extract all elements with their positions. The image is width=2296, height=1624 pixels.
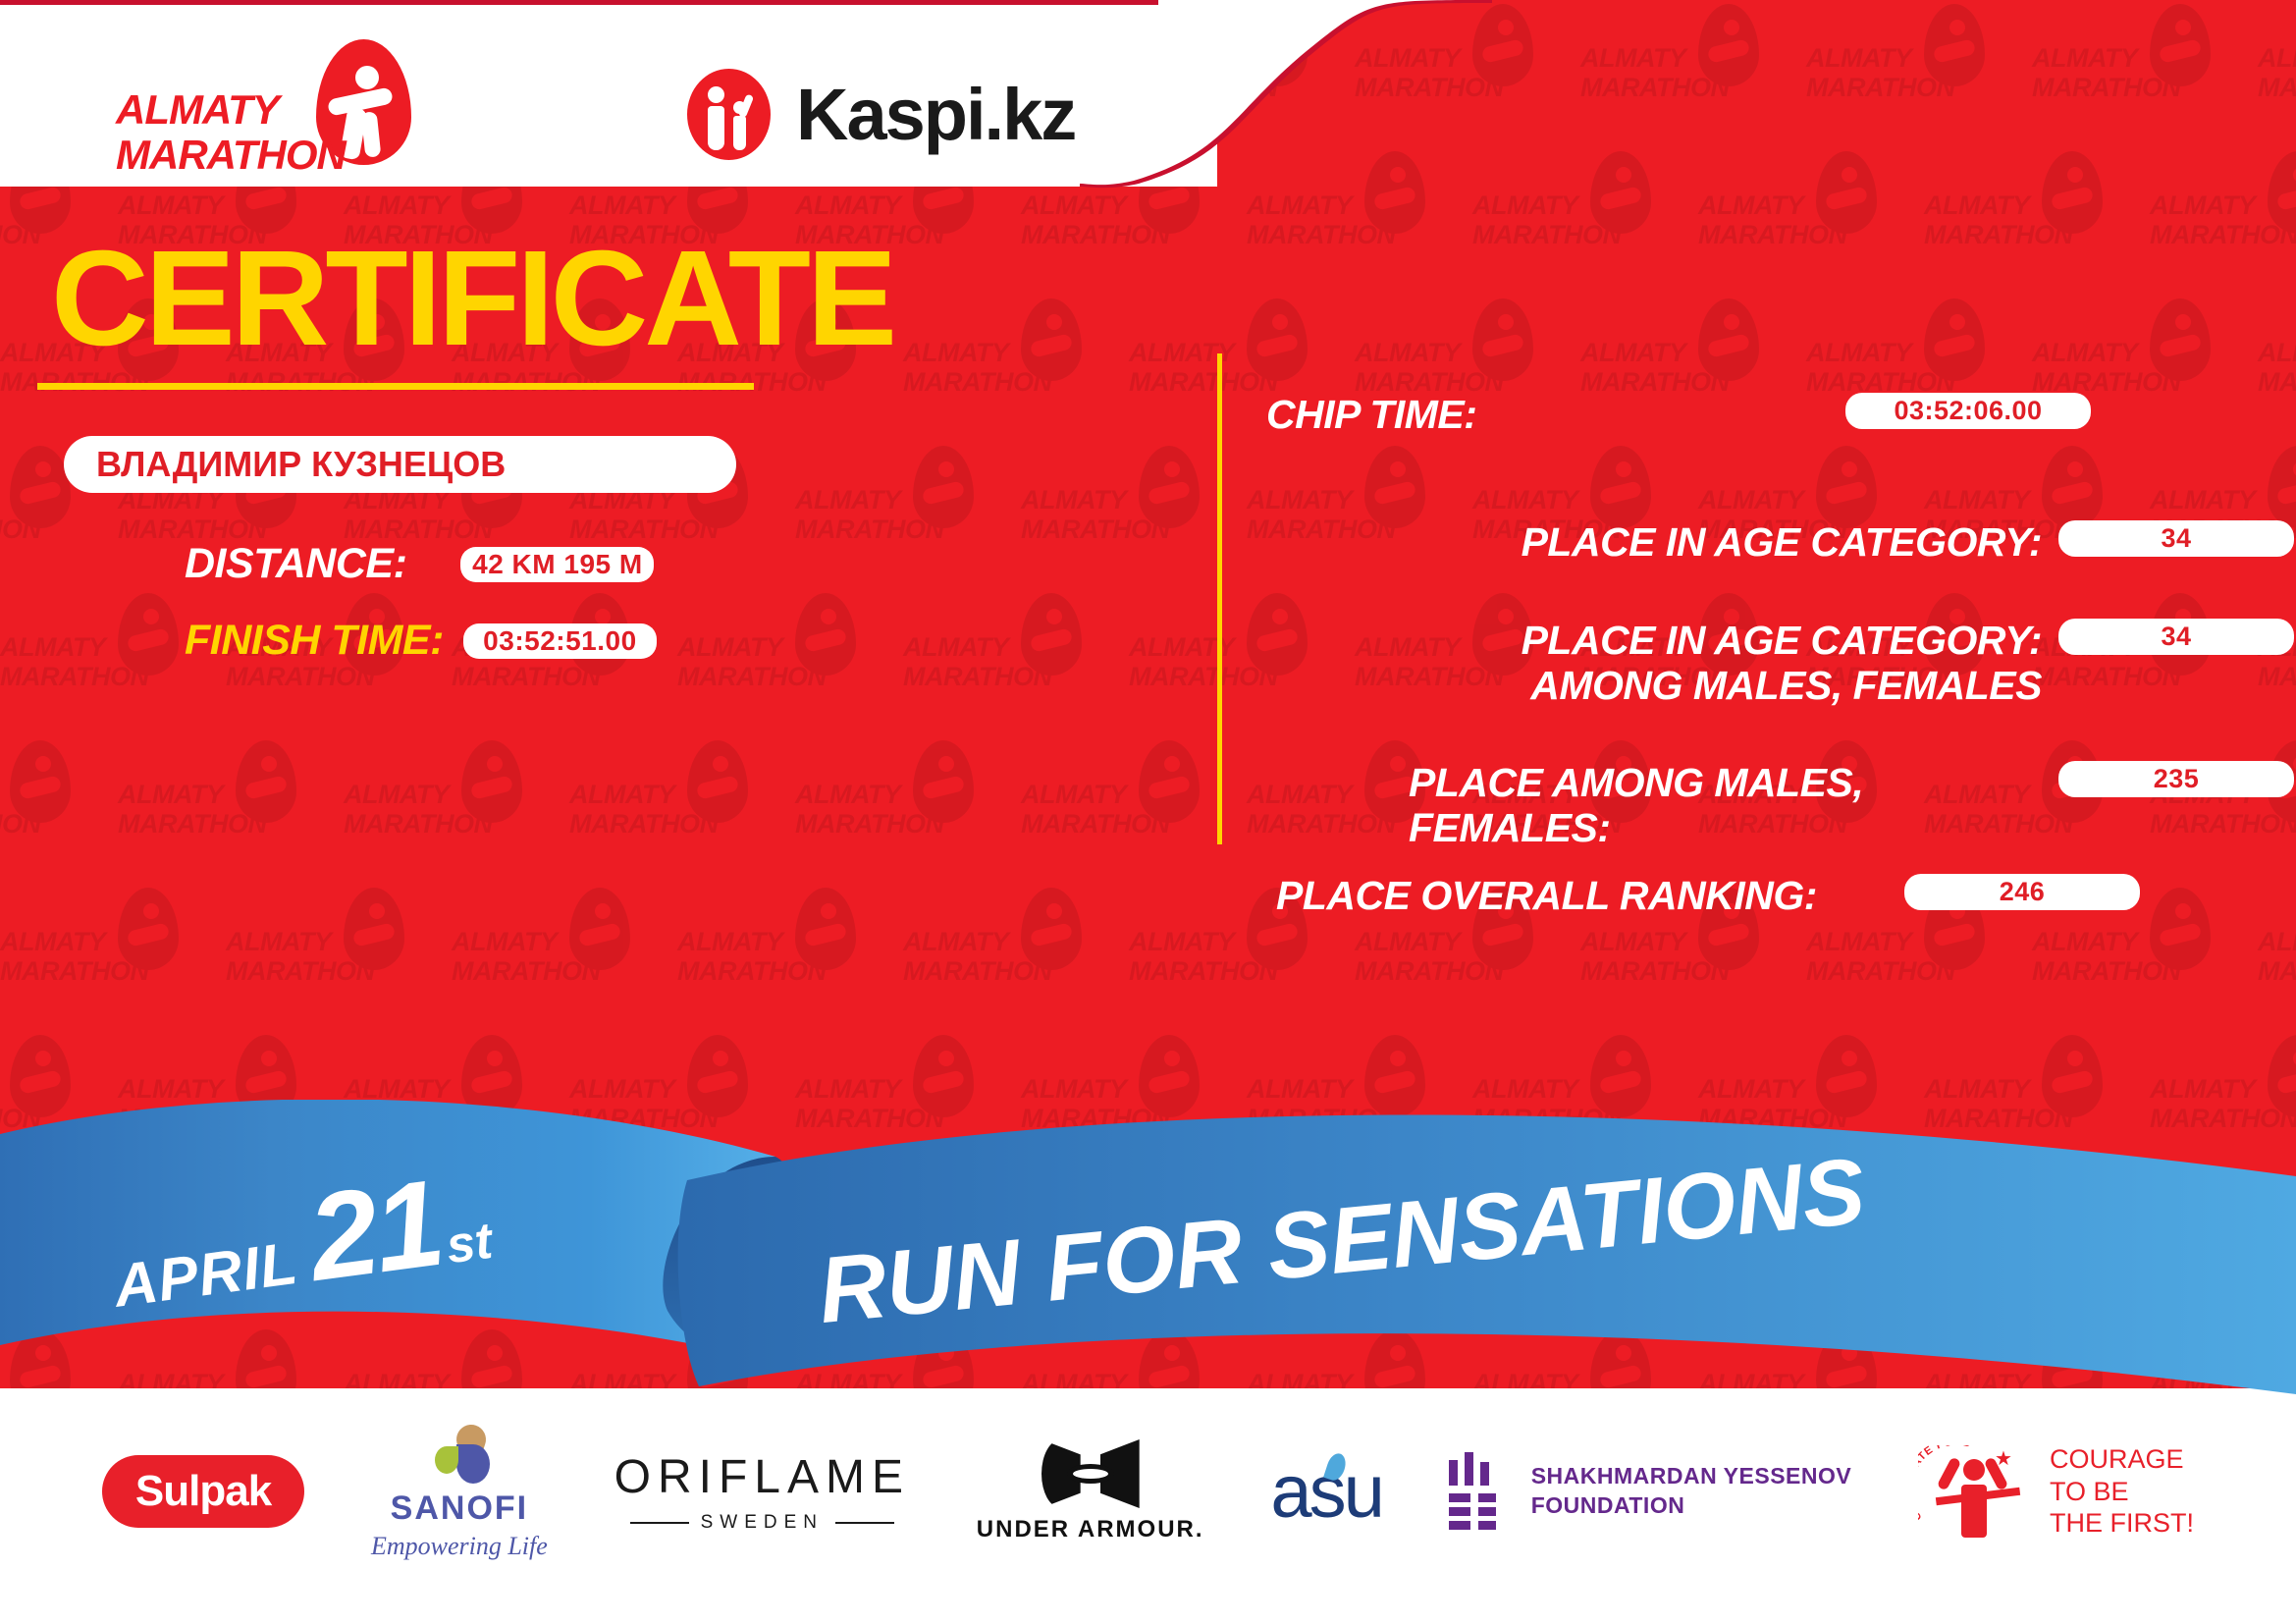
watermark-tile: ALMATYMARATHON (1806, 0, 2032, 147)
watermark-tile: ALMATYMARATHON (903, 884, 1129, 1031)
almaty-logo-line2: MARATHON (116, 132, 346, 179)
certificate-canvas: ALMATYMARATHONALMATYMARATHONALMATYMARATH… (0, 0, 2296, 1624)
watermark-tile: ALMATYMARATHON (2150, 147, 2296, 295)
watermark-tile: ALMATYMARATHON (2258, 0, 2296, 147)
watermark-tile: ALMATYMARATHON (1580, 0, 1806, 147)
event-day: 21 (301, 1153, 450, 1309)
watermark-tile: ALMATYMARATHON (1247, 442, 1472, 589)
header-top-rule (0, 0, 1158, 5)
yessenov-line1: SHAKHMARDAN YESSENOV (1531, 1462, 1852, 1491)
label-line-1: PLACE IN AGE CATEGORY: (1237, 619, 2042, 664)
place-age-category-row: PLACE IN AGE CATEGORY: 34 (1217, 520, 2296, 566)
event-day-suffix: st (443, 1212, 496, 1276)
label-line-2: FEMALES: (1409, 806, 2042, 851)
place-overall-label: PLACE OVERALL RANKING: (1217, 874, 1904, 919)
kaspi-figures-icon (687, 69, 771, 160)
watermark-tile: ALMATYMARATHON (118, 736, 344, 884)
event-month: APRIL (110, 1228, 302, 1321)
watermark-tile: ALMATYMARATHON (1924, 147, 2150, 295)
event-ribbon: APRIL 21 st RUN FOR SENSATIONS (0, 1100, 2296, 1424)
courage-line2: TO BE (2050, 1476, 2194, 1508)
watermark-tile: ALMATYMARATHON (0, 736, 118, 884)
sponsor-courage-fund: CORPORATE FUND ★ COURAGE TO BE THE FIRST… (1918, 1437, 2194, 1545)
participant-name-value: ВЛАДИМИР КУЗНЕЦОВ (96, 444, 506, 485)
chip-time-label: CHIP TIME: (1217, 393, 1845, 438)
place-age-category-value: 34 (2058, 520, 2294, 557)
watermark-tile: ALMATYMARATHON (903, 589, 1129, 736)
sponsor-oriflame: ORIFLAME SWEDEN (614, 1450, 910, 1534)
sanofi-bird-icon (429, 1423, 490, 1484)
distance-row: DISTANCE: 42 KM 195 M (185, 540, 654, 588)
watermark-tile: ALMATYMARATHON (677, 589, 903, 736)
almaty-marathon-logo: ALMATY MARATHON (116, 51, 440, 159)
place-among-gender-row: PLACE AMONG MALES, FEMALES: 235 (1217, 761, 2296, 851)
place-age-category-gender-label: PLACE IN AGE CATEGORY: AMONG MALES, FEMA… (1217, 619, 2042, 709)
oriflame-wordmark: ORIFLAME (614, 1450, 910, 1504)
place-among-gender-label: PLACE AMONG MALES, FEMALES: (1217, 761, 2042, 851)
yessenov-glyph-icon (1449, 1452, 1510, 1531)
courage-line1: COURAGE (2050, 1443, 2194, 1476)
participant-name-field: ВЛАДИМИР КУЗНЕЦОВ (64, 436, 736, 493)
sponsor-under-armour: UNDER ARMOUR. (977, 1439, 1204, 1543)
sponsor-sulpak: Sulpak (102, 1455, 304, 1528)
kaspi-wordmark: Kaspi.kz (796, 73, 1075, 156)
sulpak-wordmark: Sulpak (102, 1455, 304, 1528)
watermark-tile: ALMATYMARATHON (795, 736, 1021, 884)
watermark-tile: ALMATYMARATHON (569, 736, 795, 884)
place-age-category-gender-value: 34 (2058, 619, 2294, 655)
watermark-tile: ALMATYMARATHON (677, 884, 903, 1031)
finish-time-value: 03:52:51.00 (463, 623, 657, 659)
place-among-gender-value: 235 (2058, 761, 2294, 797)
watermark-tile: ALMATYMARATHON (1021, 442, 1247, 589)
chip-time-row: CHIP TIME: 03:52:06.00 (1217, 393, 2296, 438)
header-curve-shape (1080, 0, 1492, 260)
place-overall-value: 246 (1904, 874, 2140, 910)
finish-time-label: FINISH TIME: (185, 617, 444, 665)
watermark-tile: ALMATYMARATHON (1924, 442, 2150, 589)
distance-label: DISTANCE: (185, 540, 406, 588)
title-underline (37, 383, 754, 390)
watermark-tile: ALMATYMARATHON (1698, 147, 1924, 295)
oriflame-sub-text: SWEDEN (701, 1512, 824, 1534)
oriflame-sub: SWEDEN (614, 1512, 910, 1534)
watermark-tile: ALMATYMARATHON (0, 884, 226, 1031)
sanofi-wordmark: SANOFI (371, 1489, 548, 1528)
courage-figure-icon: CORPORATE FUND ★ (1918, 1437, 2034, 1545)
under-armour-icon (1041, 1439, 1140, 1508)
yessenov-line2: FOUNDATION (1531, 1491, 1852, 1521)
watermark-tile: ALMATYMARATHON (226, 884, 452, 1031)
courage-wordmark: COURAGE TO BE THE FIRST! (2050, 1443, 2194, 1541)
watermark-tile: ALMATYMARATHON (452, 884, 677, 1031)
watermark-tile: ALMATYMARATHON (2032, 0, 2258, 147)
kaspi-logo: Kaspi.kz (687, 69, 1075, 160)
asu-text: asu (1270, 1450, 1382, 1534)
page-title: CERTIFICATE (51, 231, 893, 366)
place-age-category-gender-row: PLACE IN AGE CATEGORY: AMONG MALES, FEMA… (1217, 619, 2296, 709)
under-armour-wordmark: UNDER ARMOUR. (977, 1516, 1204, 1543)
label-line-1: PLACE AMONG MALES, (1409, 761, 2042, 806)
watermark-tile: ALMATYMARATHON (1472, 147, 1698, 295)
watermark-tile: ALMATYMARATHON (344, 736, 569, 884)
label-line-2: AMONG MALES, FEMALES (1237, 664, 2042, 709)
watermark-tile: ALMATYMARATHON (1698, 442, 1924, 589)
watermark-tile: ALMATYMARATHON (1472, 442, 1698, 589)
courage-line3: THE FIRST! (2050, 1507, 2194, 1540)
watermark-tile: ALMATYMARATHON (795, 442, 1021, 589)
finish-time-row: FINISH TIME: 03:52:51.00 (185, 617, 657, 665)
place-age-category-label: PLACE IN AGE CATEGORY: (1217, 520, 2042, 566)
watermark-tile: ALMATYMARATHON (2150, 442, 2296, 589)
almaty-logo-line1: ALMATY (116, 86, 279, 134)
watermark-tile: ALMATYMARATHON (903, 295, 1129, 442)
place-overall-row: PLACE OVERALL RANKING: 246 (1217, 874, 2296, 919)
distance-value: 42 KM 195 M (460, 547, 654, 582)
chip-time-value: 03:52:06.00 (1845, 393, 2091, 429)
sanofi-tagline: Empowering Life (371, 1532, 548, 1561)
watermark-tile: ALMATYMARATHON (1021, 736, 1247, 884)
asu-wordmark: asu (1270, 1449, 1382, 1535)
sponsor-yessenov-foundation: SHAKHMARDAN YESSENOV FOUNDATION (1449, 1452, 1852, 1531)
sponsor-sanofi: SANOFI Empowering Life (371, 1423, 548, 1561)
sponsor-asu: asu (1270, 1449, 1382, 1535)
yessenov-wordmark: SHAKHMARDAN YESSENOV FOUNDATION (1531, 1462, 1852, 1521)
